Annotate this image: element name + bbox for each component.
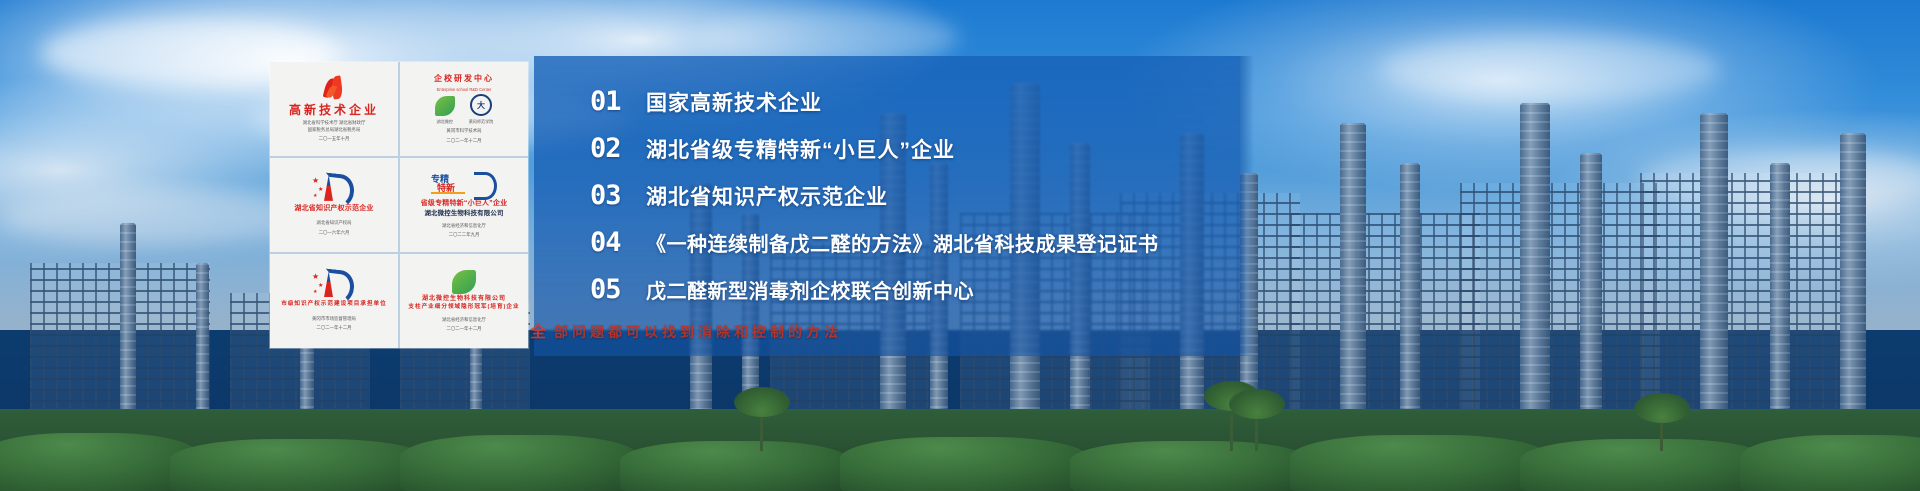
honor-item[interactable]: 05 戊二醛新型消毒剂企校联合创新中心 xyxy=(590,266,1230,313)
certificate-grid: 高新技术企业 湖北省科学技术厅 湖北省财政厅 国家税务总局湖北省税务局 二〇一五… xyxy=(270,62,528,348)
flame-icon xyxy=(323,76,345,100)
honor-text: 国家高新技术企业 xyxy=(646,87,822,117)
certificate-card[interactable]: ★★★ 湖北省知识产权示范企业 湖北省知识产权局 二〇一六年六月 xyxy=(270,158,398,252)
honor-number: 03 xyxy=(590,180,646,211)
honor-text: 湖北省级专精特新“小巨人”企业 xyxy=(646,134,955,164)
marquee-lead: 全 xyxy=(530,324,550,340)
honor-text: 《一种连续制备戊二醛的方法》湖北省科技成果登记证书 xyxy=(646,228,1159,257)
certificate-date: 二〇二一年十二月 xyxy=(446,326,481,332)
honor-item[interactable]: 03 湖北省知识产权示范企业 xyxy=(590,172,1230,219)
certificate-issuer: 黄冈市市场监督管理局 xyxy=(312,316,356,322)
honor-item[interactable]: 01 国家高新技术企业 xyxy=(590,78,1230,125)
honor-text: 戊二醛新型消毒剂企校联合创新中心 xyxy=(646,275,974,304)
certificate-issuer: 湖北省经济和信息化厅 xyxy=(442,317,486,323)
certificate-issuer: 湖北省经济和信息化厅 xyxy=(442,223,486,229)
honors-panel-fade xyxy=(1240,56,1254,356)
honor-text: 湖北省知识产权示范企业 xyxy=(646,181,888,211)
certificate-issuer: 湖北省科学技术厅 湖北省财政厅 国家税务总局湖北省税务局 xyxy=(303,120,366,133)
certificate-card[interactable]: 专精特新 省级专精特新“小巨人”企业 湖北微控生物科技有限公司 湖北省经济和信息… xyxy=(400,158,528,252)
certificate-subtitle: 支柱产业细分领域隐形冠军(培育)企业 xyxy=(408,304,519,311)
certificate-issuer: 黄冈市科学技术局 xyxy=(446,128,481,134)
ground-vegetation xyxy=(0,409,1920,491)
honor-number: 01 xyxy=(590,86,646,117)
marquee-text: 部问题都可以找到消除和控制的方法 xyxy=(554,324,842,340)
university-seal-icon: 大 xyxy=(470,94,492,116)
certificate-issuer: 湖北省知识产权局 xyxy=(316,220,351,226)
certificate-date: 二〇一五年十月 xyxy=(319,136,350,142)
certificate-org-left: 湖北微控 xyxy=(435,119,455,125)
certificate-subtitle-en: Enterprise school R&D Center xyxy=(437,87,492,93)
marquee-slogan: 全部问题都可以找到消除和控制的方法 xyxy=(530,318,960,340)
leaf-icon xyxy=(452,270,476,294)
certificate-date: 二〇一六年六月 xyxy=(319,230,350,236)
leaf-icon xyxy=(435,96,455,116)
certificate-title: 湖北微控生物科技有限公司 xyxy=(422,296,506,303)
certificate-date: 二〇二二年九月 xyxy=(449,232,480,238)
honor-number: 04 xyxy=(590,227,646,258)
certificate-company: 湖北微控生物科技有限公司 xyxy=(424,210,503,218)
certificate-title: 企校研发中心 xyxy=(434,74,494,84)
certificate-title: 省级专精特新“小巨人”企业 xyxy=(421,200,508,208)
certificate-card[interactable]: 高新技术企业 湖北省科学技术厅 湖北省财政厅 国家税务总局湖北省税务局 二〇一五… xyxy=(270,62,398,156)
certificate-date: 二〇二一年十二月 xyxy=(446,138,481,144)
honor-item[interactable]: 02 湖北省级专精特新“小巨人”企业 xyxy=(590,125,1230,172)
honor-item[interactable]: 04 《一种连续制备戊二醛的方法》湖北省科技成果登记证书 xyxy=(590,219,1230,266)
ip-mark-icon: ★★★ xyxy=(312,270,356,298)
zjtx-mark-icon: 专精特新 xyxy=(431,172,497,194)
certificate-card[interactable]: 企校研发中心 Enterprise school R&D Center 湖北微控… xyxy=(400,62,528,156)
ip-mark-icon: ★★★ xyxy=(312,174,356,202)
honor-number: 05 xyxy=(590,274,646,305)
honors-list: 01 国家高新技术企业 02 湖北省级专精特新“小巨人”企业 03 湖北省知识产… xyxy=(590,78,1230,313)
banner-stage: 高新技术企业 湖北省科学技术厅 湖北省财政厅 国家税务总局湖北省税务局 二〇一五… xyxy=(0,0,1920,491)
certificate-card[interactable]: 湖北微控生物科技有限公司 支柱产业细分领域隐形冠军(培育)企业 湖北省经济和信息… xyxy=(400,254,528,348)
honor-number: 02 xyxy=(590,133,646,164)
certificate-title: 高新技术企业 xyxy=(289,103,379,117)
certificate-date: 二〇二一年十二月 xyxy=(316,325,351,331)
certificate-card[interactable]: ★★★ 市级知识产权示范建设项目承担单位 黄冈市市场监督管理局 二〇二一年十二月 xyxy=(270,254,398,348)
certificate-org-right: 黄冈师范学院 xyxy=(469,119,494,125)
